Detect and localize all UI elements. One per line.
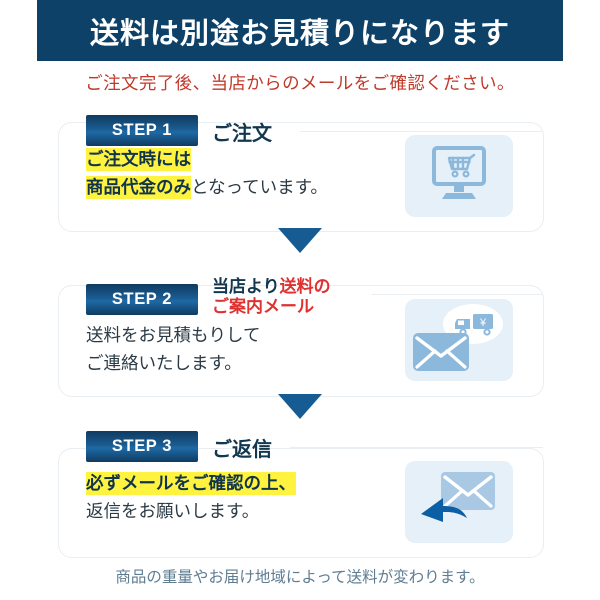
step-3-divider (290, 447, 543, 448)
step-3-icon-tile (405, 461, 513, 543)
step-3-title: ご返信 (212, 440, 272, 462)
step-3-highlight-1: 必ずメールをご確認の上、 (86, 472, 296, 495)
step-2-body-line-1: 送料をお見積もりして (86, 322, 260, 350)
connector-arrow-2 (278, 394, 322, 419)
connector-arrow-1 (278, 228, 322, 253)
step-2-title-accent-1: 送料の (280, 277, 331, 296)
step-1-icon-tile (405, 135, 513, 217)
step-1-divider (300, 131, 543, 132)
step-2-icon-tile: ¥ (405, 299, 513, 381)
step-2-title-lead: 当店より (212, 277, 280, 296)
step-1-body: ご注文時には 商品代金のみとなっています。 (86, 146, 328, 201)
step-2-body: 送料をお見積もりして ご連絡いたします。 (86, 322, 260, 377)
step-1-title: ご注文 (212, 124, 272, 146)
svg-text:¥: ¥ (479, 317, 487, 329)
step-3-body-line-1: 必ずメールをご確認の上、 (86, 470, 296, 498)
envelope-reply-icon (417, 466, 501, 539)
step-3-badge: STEP 3 (86, 431, 198, 462)
step-2-badge: STEP 2 (86, 284, 198, 315)
footer-note: 商品の重量やお届け地域によって送料が変わります。 (0, 565, 600, 587)
step-1-body-line-2: 商品代金のみとなっています。 (86, 174, 328, 202)
step-2-header: STEP 2 当店より送料の ご案内メール (86, 277, 331, 317)
step-2-divider (372, 294, 543, 295)
step-1-header: STEP 1 ご注文 (86, 115, 272, 146)
step-1-highlight-1: ご注文時には (86, 148, 191, 171)
page-title: 送料は別途お見積りになります (90, 10, 510, 52)
header-banner: 送料は別途お見積りになります (37, 0, 563, 61)
step-3-body: 必ずメールをご確認の上、 返信をお願いします。 (86, 470, 296, 525)
step-1-highlight-2: 商品代金のみ (86, 176, 191, 199)
subtitle-text: ご注文完了後、当店からのメールをご確認ください。 (0, 70, 600, 95)
step-1-body-line-1: ご注文時には (86, 146, 328, 174)
step-2-body-line-2: ご連絡いたします。 (86, 350, 260, 378)
monitor-cart-icon (424, 145, 494, 208)
step-2-title-line-1: 当店より送料の (212, 277, 331, 297)
envelope-truck-icon: ¥ (411, 301, 507, 380)
step-2-title-line-2: ご案内メール (212, 297, 331, 317)
step-2-title: 当店より送料の ご案内メール (212, 277, 331, 317)
step-3-header: STEP 3 ご返信 (86, 431, 272, 462)
step-3-body-line-2: 返信をお願いします。 (86, 498, 296, 526)
step-1-badge: STEP 1 (86, 115, 198, 146)
step-1-plain-2: となっています。 (191, 177, 328, 197)
